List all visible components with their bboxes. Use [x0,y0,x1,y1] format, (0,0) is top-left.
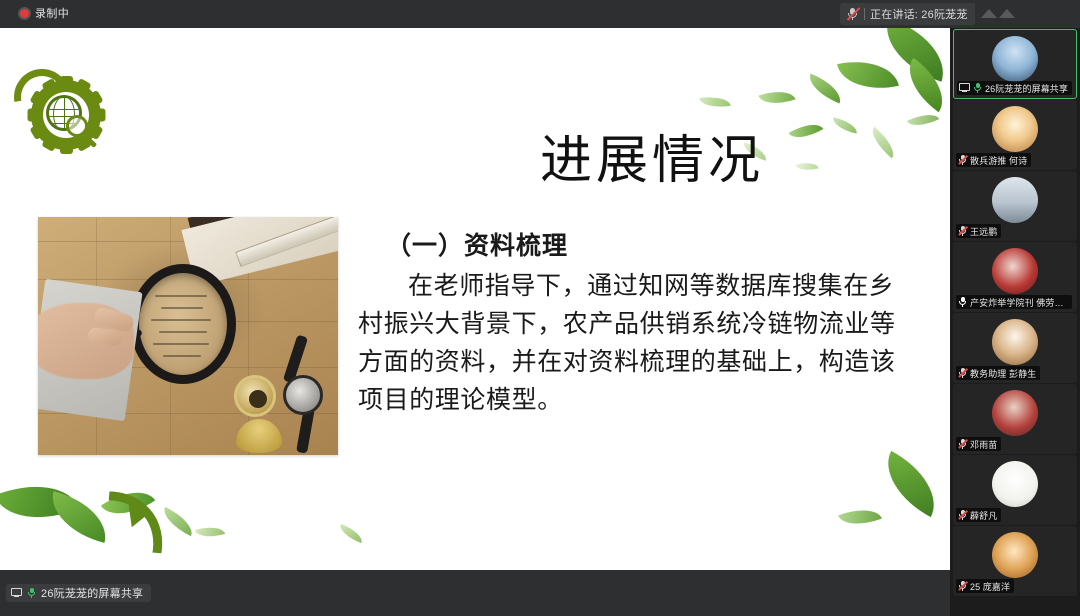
participant-name: 产安炸举学院刊 佛劳帅… [970,296,1068,309]
microphone-muted-icon [958,510,967,521]
participant-name: 邓雨苗 [970,438,997,451]
microphone-muted-icon [958,368,967,379]
microphone-muted-icon [958,581,967,592]
green-leaf-icon [838,502,882,533]
gear-globe-magnifier-logo [10,61,114,153]
green-leaf-icon [837,53,899,98]
participant-tile[interactable]: 邓雨苗 [953,384,1077,454]
participant-tile[interactable]: 散兵游推 何诗 [953,100,1077,170]
top-bar: 正在讲话: 26阮茏茏 [0,0,1080,28]
screen-share-icon [959,83,970,93]
rail-filler [950,598,1080,616]
green-leaf-icon [907,108,939,132]
recording-label: 录制中 [35,5,69,21]
chevron-up-icon [981,9,997,18]
avatar-illustration-cat [992,532,1038,578]
green-leaf-icon [795,159,819,173]
microphone-active-icon [958,297,967,308]
participant-tile[interactable]: 王远鹏 [953,171,1077,241]
participant-name: 散兵游推 何诗 [970,154,1027,167]
participant-name-bar: 26阮茏茏的屏幕共享 [957,81,1072,95]
participant-tile[interactable]: 产安炸举学院刊 佛劳帅… [953,242,1077,312]
meeting-window: 正在讲话: 26阮茏茏 [0,0,1080,616]
avatar-photo-person [992,36,1038,82]
green-leaf-icon [866,127,900,159]
participant-tile[interactable]: 薜舒凡 [953,455,1077,525]
participant-tile[interactable]: 25 庞嘉洋 [953,526,1077,596]
slide-body: （一）资料梳理 在老师指导下，通过知网等数据库搜集在乡村振兴大背景下，农产品供销… [358,226,918,420]
participant-tile[interactable]: 26阮茏茏的屏幕共享 [953,29,1077,99]
slide-photo [38,217,338,455]
participant-tile[interactable]: 教务助理 彭静生 [953,313,1077,383]
screen-share-label: 26阮茏茏的屏幕共享 [41,585,143,601]
participant-name-bar: 王远鹏 [956,224,1001,238]
recording-indicator: 录制中 [20,5,69,21]
slide-title: 进展情况 [540,118,764,193]
participant-name-bar: 25 庞嘉洋 [956,579,1014,593]
avatar-illustration-character [992,106,1038,152]
green-leaf-icon [872,451,949,517]
avatar-illustration-white-face [992,461,1038,507]
magnifier-icon [66,115,88,137]
green-leaf-icon [831,117,859,133]
microphone-active-icon [27,588,36,599]
green-leaf-icon [195,522,225,541]
shared-screen-slide[interactable]: 进展情况 [0,28,950,570]
screen-share-icon [11,588,22,598]
microphone-muted-icon [958,226,967,237]
chevron-up-icon [999,9,1015,18]
participant-name-bar: 教务助理 彭静生 [956,366,1040,380]
bottom-bar: 26阮茏茏的屏幕共享 [0,570,950,616]
record-dot-icon [20,9,29,18]
avatar-photo-red-dress [992,248,1038,294]
microphone-active-icon [973,83,982,94]
active-speaker-label: 正在讲话: 26阮茏茏 [870,6,968,22]
green-swoosh-arrow-icon [18,498,178,570]
green-leaf-icon [699,94,730,110]
collapse-panel-button[interactable] [975,0,1020,26]
slide-paragraph: 在老师指导下，通过知网等数据库搜集在乡村振兴大背景下，农产品供销系统冷链物流业等… [358,268,918,420]
divider [864,8,865,20]
participant-name: 25 庞嘉洋 [970,580,1010,593]
microphone-muted-icon [958,155,967,166]
participant-name-bar: 散兵游推 何诗 [956,153,1031,167]
participant-name: 教务助理 彭静生 [970,367,1036,380]
microphone-muted-icon [958,439,967,450]
participant-name-bar: 产安炸举学院刊 佛劳帅… [956,295,1072,309]
participant-name: 26阮茏茏的屏幕共享 [985,82,1068,95]
green-leaf-icon [337,524,365,543]
avatar-photo-red-scarf [992,390,1038,436]
avatar-illustration-guitar [992,319,1038,365]
slide-section-heading: （一）资料梳理 [386,226,918,262]
avatar-photo-snow-skier [992,177,1038,223]
green-leaf-icon [804,74,846,104]
active-speaker-indicator: 正在讲话: 26阮茏茏 [840,3,976,25]
participant-name: 薜舒凡 [970,509,997,522]
microphone-muted-icon [846,7,859,21]
screen-share-status: 26阮茏茏的屏幕共享 [6,584,151,602]
participant-name-bar: 薜舒凡 [956,508,1001,522]
green-leaf-icon [759,85,796,110]
green-leaf-icon [789,117,824,145]
participant-name: 王远鹏 [970,225,997,238]
participant-name-bar: 邓雨苗 [956,437,1001,451]
participant-rail[interactable]: 26阮茏茏的屏幕共享散兵游推 何诗王远鹏产安炸举学院刊 佛劳帅…教务助理 彭静生… [950,28,1080,616]
